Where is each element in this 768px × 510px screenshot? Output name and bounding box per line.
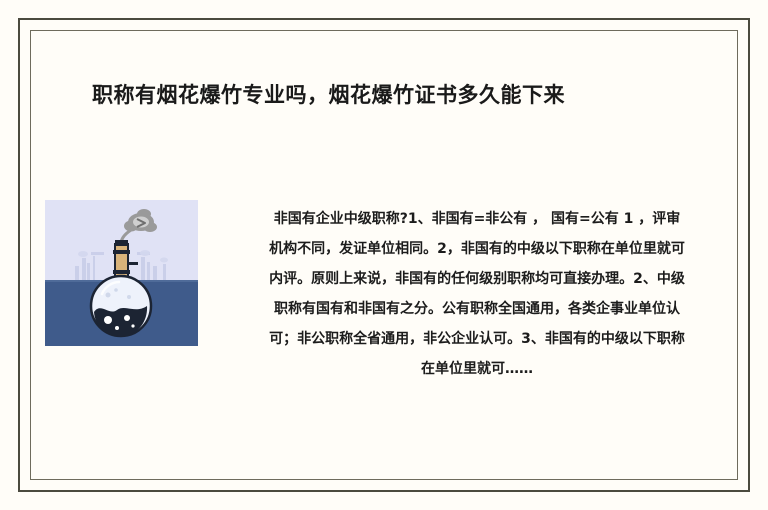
article-page: 职称有烟花爆竹专业吗，烟花爆竹证书多久能下来 [0,0,768,510]
flask-in-water-illustration [45,200,198,346]
page-content: 职称有烟花爆竹专业吗，烟花爆竹证书多久能下来 [0,0,768,510]
page-title: 职称有烟花爆竹专业吗，烟花爆竹证书多久能下来 [92,79,565,109]
article-body: 非国有企业中级职称?1、非国有=非公有 ， 国有=公有 1 ，评审机构不同，发证… [268,204,686,384]
illustration-svg [45,200,198,346]
